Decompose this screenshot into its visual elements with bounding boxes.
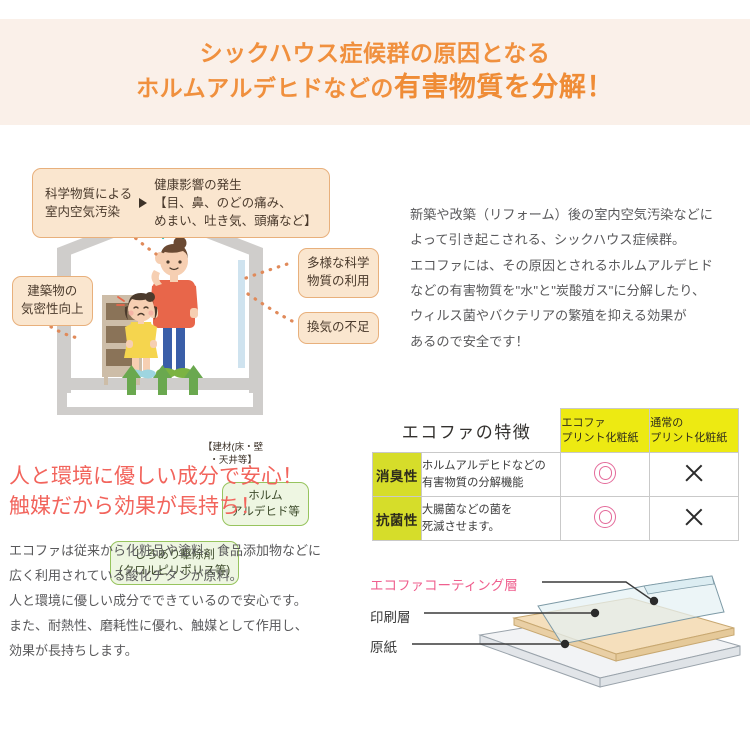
desc-deodorizing-line1: ホルムアルデヒドなどの <box>422 458 561 474</box>
arrow-right-icon <box>139 198 147 208</box>
callout-top-left-line2: 室内空気汚染 <box>45 203 132 221</box>
callout-top-right-line3: めまい、吐き気、頭痛など】 <box>154 212 317 230</box>
intro-line-4: などの有害物質を"水"と"炭酸ガス"に分解したり、 <box>410 278 740 303</box>
row-desc-antibacterial: 大腸菌などの菌を 死滅させます。 <box>421 497 561 541</box>
table-header-normal: 通常の プリント化粧紙 <box>650 409 739 453</box>
layer-label-print: 印刷層 <box>370 606 411 626</box>
callout-top-right-line2: 【目、鼻、のどの痛み、 <box>154 194 317 212</box>
callout-left-line2: 気密性向上 <box>21 301 84 319</box>
safety-heading-line1: 人と環境に優しい成分で安心！ <box>9 462 369 492</box>
cross-icon <box>683 462 705 484</box>
header-line-1: シックハウス症候群の原因となる <box>200 39 551 68</box>
safety-heading: 人と環境に優しい成分で安心！ 触媒だから効果が長持ち！ <box>9 462 369 522</box>
callout-right2-label: 換気の不足 <box>307 319 370 337</box>
layer-structure-diagram: エコファコーティング層 印刷層 原紙 <box>362 560 750 710</box>
callout-chemical-pollution: 科学物質による 室内空気汚染 健康影響の発生 【目、鼻、のどの痛み、 めまい、吐… <box>32 168 330 238</box>
safety-body-line5: 効果が長持ちします。 <box>9 638 379 663</box>
table-row: 消臭性 ホルムアルデヒドなどの 有害物質の分解機能 <box>373 453 739 497</box>
layer-label-base-paper: 原紙 <box>370 636 397 656</box>
building-material-line1: 【建材(床・壁 <box>203 442 263 455</box>
layer-label-coating: エコファコーティング層 <box>370 574 518 594</box>
safety-body-line4: また、耐熱性、磨耗性に優れ、触媒として作用し、 <box>9 613 379 638</box>
table-title: エコファの特徴 <box>373 409 561 453</box>
safety-body-line2: 広く利用されている酸化チタンが原料。 <box>9 563 379 588</box>
mark-normal-deodorizing <box>650 453 739 497</box>
house-diagram: 科学物質による 室内空気汚染 健康影響の発生 【目、鼻、のどの痛み、 めまい、吐… <box>0 160 400 415</box>
mark-eco-deodorizing <box>561 453 650 497</box>
callout-diverse-chemicals: 多様な科学 物質の利用 <box>298 248 379 298</box>
intro-line-6: あるので安全です！ <box>410 329 740 354</box>
mark-normal-antibacterial <box>650 497 739 541</box>
cross-icon <box>683 506 705 528</box>
row-desc-deodorizing: ホルムアルデヒドなどの 有害物質の分解機能 <box>421 453 561 497</box>
table-row: 抗菌性 大腸菌などの菌を 死滅させます。 <box>373 497 739 541</box>
row-label-antibacterial: 抗菌性 <box>373 497 422 541</box>
row-label-deodorizing: 消臭性 <box>373 453 422 497</box>
double-circle-icon <box>594 462 616 484</box>
table-header-row: エコファの特徴 エコファ プリント化粧紙 通常の プリント化粧紙 <box>373 409 739 453</box>
callout-poor-ventilation: 換気の不足 <box>298 312 379 344</box>
safety-heading-line2: 触媒だから効果が長持ち！ <box>9 492 369 522</box>
callout-airtightness: 建築物の 気密性向上 <box>12 276 93 326</box>
infographic-page: シックハウス症候群の原因となる ホルムアルデヒドなどの有害物質を分解！ <box>0 0 750 731</box>
safety-body-line3: 人と環境に優しい成分でできているので安心です。 <box>9 588 379 613</box>
callout-top-left-line1: 科学物質による <box>45 185 132 203</box>
header-line-2-normal: ホルムアルデヒドなどの <box>136 75 394 101</box>
header-line-2: ホルムアルデヒドなどの有害物質を分解！ <box>136 70 614 105</box>
header-line-2-emphasis: 有害物質を分解！ <box>394 72 614 102</box>
header-normal-line2: プリント化粧紙 <box>650 431 738 446</box>
callout-right1-line2: 物質の利用 <box>307 273 370 291</box>
callout-top-right-line1: 健康影響の発生 <box>154 176 317 194</box>
safety-body: エコファは従来から化粧品や塗料、食品添加物などに 広く利用されている酸化チタンが… <box>9 538 379 663</box>
intro-line-1: 新築や改築（リフォーム）後の室内空気汚染などに <box>410 202 740 227</box>
safety-body-line1: エコファは従来から化粧品や塗料、食品添加物などに <box>9 538 379 563</box>
intro-line-3: エコファには、その原因とされるホルムアルデヒド <box>410 253 740 278</box>
desc-deodorizing-line2: 有害物質の分解機能 <box>422 475 561 491</box>
double-circle-icon <box>594 506 616 528</box>
table-header-eco: エコファ プリント化粧紙 <box>561 409 650 453</box>
callout-left-line1: 建築物の <box>21 283 84 301</box>
header-eco-line2: プリント化粧紙 <box>561 431 649 446</box>
header-normal-line1: 通常の <box>650 416 738 431</box>
desc-antibacterial-line2: 死滅させます。 <box>422 519 561 535</box>
header-banner: シックハウス症候群の原因となる ホルムアルデヒドなどの有害物質を分解！ <box>0 19 750 125</box>
callout-right1-line1: 多様な科学 <box>307 255 370 273</box>
header-eco-line1: エコファ <box>561 416 649 431</box>
intro-line-2: よって引き起こされる、シックハウス症候群。 <box>410 227 740 252</box>
mark-eco-antibacterial <box>561 497 650 541</box>
intro-line-5: ウィルス菌やバクテリアの繁殖を抑える効果が <box>410 303 740 328</box>
desc-antibacterial-line1: 大腸菌などの菌を <box>422 502 561 518</box>
intro-paragraph: 新築や改築（リフォーム）後の室内空気汚染などに よって引き起こされる、シックハウ… <box>410 202 740 354</box>
feature-comparison-table: エコファの特徴 エコファ プリント化粧紙 通常の プリント化粧紙 消臭性 ホルム… <box>372 408 739 541</box>
